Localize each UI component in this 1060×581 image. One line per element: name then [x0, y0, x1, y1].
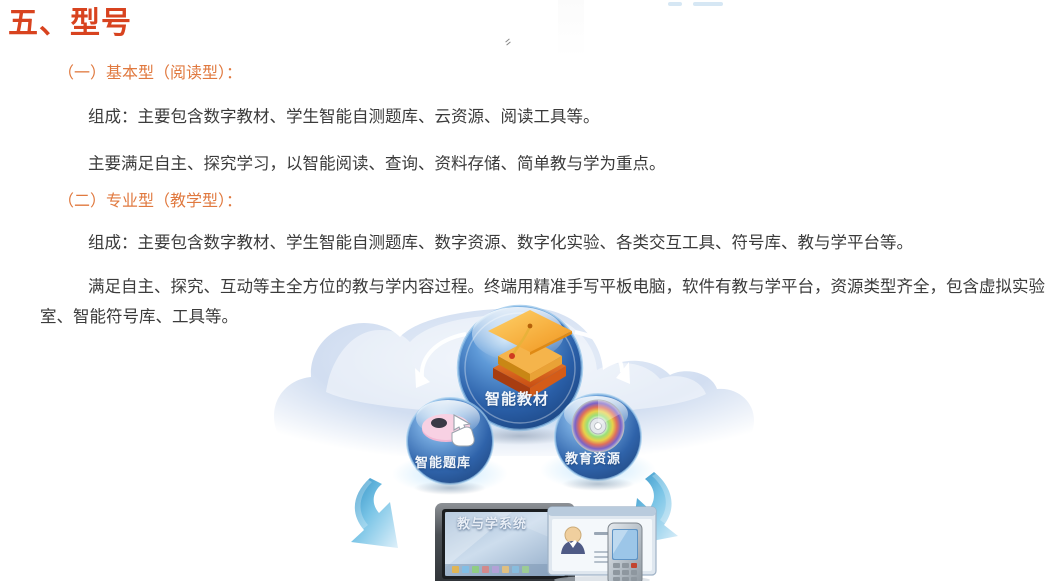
shadow-quizbank [414, 481, 486, 495]
cd-disc-icon [572, 400, 624, 452]
architecture-illustration [230, 296, 790, 581]
slide-page: 五、型号 （一）基本型（阅读型）： 组成：主要包含数字教材、学生智能自测题库、云… [0, 0, 1060, 581]
watermark-dash-right [693, 2, 723, 6]
page-title: 五、型号 [8, 4, 132, 44]
paragraph-basic-purpose: 主要满足自主、探究学习，以智能阅读、查询、资料存储、简单教与学为重点。 [88, 152, 666, 176]
paragraph-basic-composition: 组成：主要包含数字教材、学生智能自测题库、云资源、阅读工具等。 [88, 105, 600, 129]
watermark-tick-icon [505, 38, 512, 45]
shadow-resources [562, 477, 634, 491]
arrow-quizbank-to-system [351, 478, 398, 548]
section-label-basic: （一）基本型（阅读型）： [58, 62, 242, 84]
section-label-professional: （二）专业型（教学型）： [58, 190, 242, 212]
watermark-smudge [558, 0, 584, 58]
device-mobile-phone[interactable] [605, 523, 645, 581]
watermark-dash-left [668, 2, 682, 6]
node-smart-question-bank[interactable] [407, 398, 493, 484]
paragraph-pro-composition: 组成：主要包含数字教材、学生智能自测题库、数字资源、数字化实验、各类交互工具、符… [88, 231, 913, 255]
node-education-resources[interactable] [555, 394, 641, 480]
